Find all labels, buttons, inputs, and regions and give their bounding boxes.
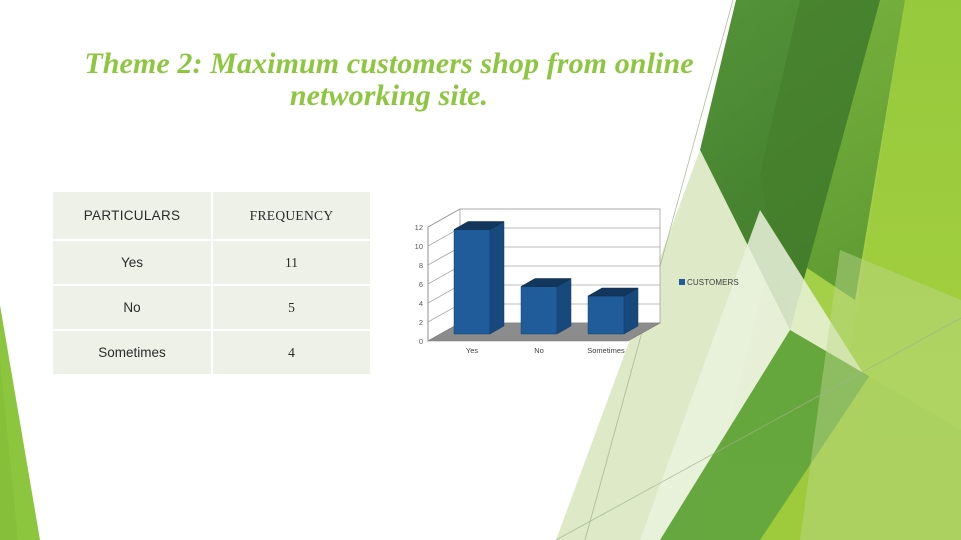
bar-no-front <box>521 287 557 335</box>
chart-svg: 0 2 4 6 8 10 12 <box>408 203 758 368</box>
legend-label-customers: CUSTOMERS <box>687 278 739 287</box>
deco-shape-left-wedge <box>0 305 40 540</box>
deco-shape-bright-lower <box>760 330 961 540</box>
deco-shape-dark-fold <box>760 0 880 330</box>
y-tick-6: 6 <box>419 280 423 289</box>
cat-label-sometimes: Sometimes <box>587 346 625 355</box>
deco-shape-left-wedge-edge <box>0 360 18 540</box>
title-block: Theme 2: Maximum customers shop from onl… <box>74 48 704 112</box>
cell-frequency: 5 <box>213 286 370 331</box>
y-tick-8: 8 <box>419 261 423 270</box>
chart-legend: CUSTOMERS <box>679 278 739 287</box>
bar-no <box>521 279 571 335</box>
table-header-particulars: PARTICULARS <box>53 192 213 241</box>
cat-label-no: No <box>534 346 544 355</box>
table-row: No 5 <box>53 286 370 331</box>
y-tick-2: 2 <box>419 318 423 327</box>
cat-label-yes: Yes <box>466 346 478 355</box>
chart-y-tick-labels: 0 2 4 6 8 10 12 <box>415 223 423 346</box>
legend-swatch-icon <box>679 279 685 285</box>
bar-chart: 0 2 4 6 8 10 12 <box>408 203 758 368</box>
bar-sometimes-front <box>588 296 624 334</box>
bar-sometimes <box>588 288 638 334</box>
bar-yes <box>454 222 504 335</box>
page-title: Theme 2: Maximum customers shop from onl… <box>74 48 704 112</box>
table-header-frequency: FREQUENCY <box>213 192 370 241</box>
slide-canvas: Theme 2: Maximum customers shop from onl… <box>0 0 961 540</box>
y-tick-4: 4 <box>419 299 423 308</box>
table-body: Yes 11 No 5 Sometimes 4 <box>53 241 370 374</box>
y-tick-0: 0 <box>419 337 423 346</box>
table-row: Sometimes 4 <box>53 331 370 374</box>
cell-frequency: 4 <box>213 331 370 374</box>
y-tick-12: 12 <box>415 223 423 232</box>
table-header-row: PARTICULARS FREQUENCY <box>53 192 370 241</box>
bar-yes-front <box>454 230 490 335</box>
cell-particulars: No <box>53 286 213 331</box>
y-tick-10: 10 <box>415 242 423 251</box>
frequency-table: PARTICULARS FREQUENCY Yes 11 No 5 Someti… <box>53 192 370 374</box>
chart-category-labels: Yes No Sometimes <box>466 346 625 355</box>
cell-particulars: Sometimes <box>53 331 213 374</box>
deco-shape-lime-right <box>820 0 961 540</box>
cell-particulars: Yes <box>53 241 213 286</box>
table-row: Yes 11 <box>53 241 370 286</box>
bar-no-side <box>557 279 571 335</box>
deco-shape-light-panel <box>800 250 961 540</box>
table-header: PARTICULARS FREQUENCY <box>53 192 370 241</box>
cell-frequency: 11 <box>213 241 370 286</box>
bar-yes-side <box>490 222 504 335</box>
deco-shape-mid-upper <box>735 0 905 300</box>
